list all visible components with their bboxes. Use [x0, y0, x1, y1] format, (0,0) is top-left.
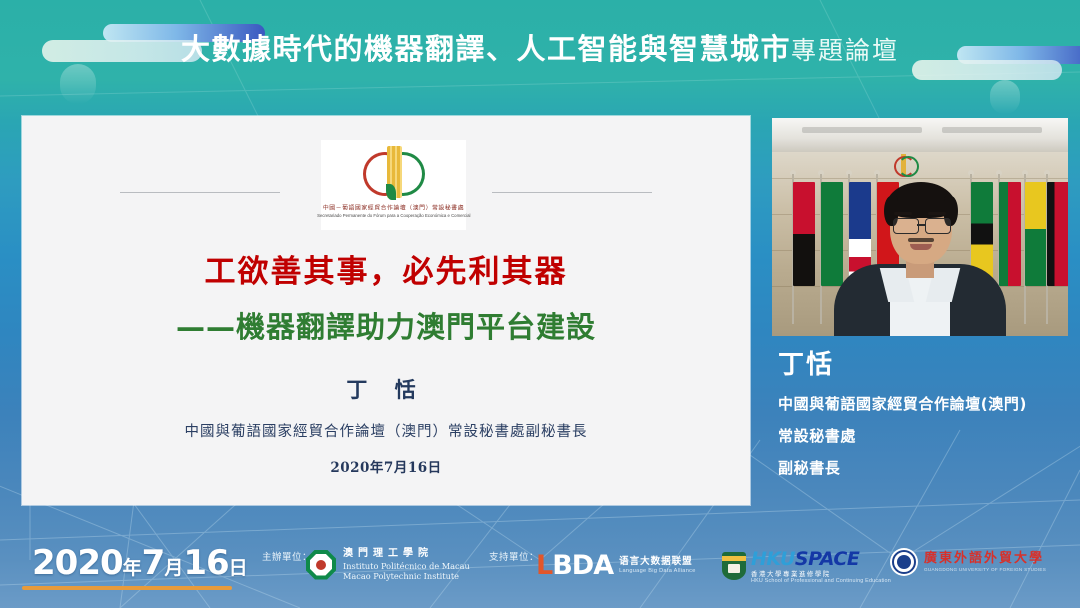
- lbda-name-en: Language Big Data Alliance: [619, 568, 696, 575]
- event-date-year-unit: 年: [123, 557, 142, 579]
- slide-title-main: 工欲善其事，必先利其器: [22, 246, 750, 291]
- mpi-name-en: Macao Polytechnic Institute: [343, 571, 470, 581]
- speaker-info-name: 丁恬: [778, 344, 1078, 381]
- slide-title-sub: ——機器翻譯助力澳門平台建設: [22, 304, 750, 346]
- decor-pill-top-left-faint: [60, 64, 96, 104]
- event-date-underline: [22, 586, 232, 590]
- mpi-seal-icon: [306, 550, 336, 580]
- gdufs-badge-icon: [890, 548, 918, 576]
- forum-header-title: 大數據時代的機器翻譯、人工智能與智慧城市專題論壇: [0, 26, 1080, 68]
- presentation-stage: 大數據時代的機器翻譯、人工智能與智慧城市專題論壇 中國－葡語國家經貿合作論壇（澳…: [0, 0, 1080, 608]
- speaker-info-block: 丁恬 中國與葡語國家經貿合作論壇(澳門) 常設秘書處 副秘書長: [778, 344, 1078, 489]
- event-date-year: 2020: [32, 543, 123, 583]
- event-date: 2020年7月16日: [32, 543, 248, 583]
- event-date-month-unit: 月: [164, 557, 183, 579]
- lbda-name-zh: 语言大数据联盟: [619, 556, 696, 568]
- video-ceiling: [772, 118, 1068, 152]
- glasses-icon: [893, 218, 919, 234]
- speaker-video-feed[interactable]: [772, 118, 1068, 336]
- hku-mark-a: HKU: [751, 548, 795, 570]
- logo-hku-space: HKUSPACE 香港大學專業進修學院 HKU School of Profes…: [722, 548, 891, 585]
- lbda-mark-rest: BDA: [552, 550, 613, 581]
- hku-name-zh: 香港大學專業進修學院: [751, 571, 891, 579]
- logo-caption-pt: Secretariado Permanente do Fórum para a …: [317, 213, 470, 219]
- gdufs-name-zh: 廣東外語外貿大學: [924, 551, 1046, 567]
- logo-gdufs: 廣東外語外貿大學 GUANGDONG UNIVERSITY OF FOREIGN…: [890, 548, 1046, 576]
- speaker-portrait: [834, 178, 1006, 336]
- event-date-day-unit: 日: [229, 557, 248, 579]
- slide-logo-row: 中國－葡語國家經貿合作論壇（澳門）常設秘書處 Secretariado Perm…: [22, 130, 750, 230]
- header-title-strong: 大數據時代的機器翻譯、人工智能與智慧城市: [181, 32, 791, 66]
- event-date-month: 7: [142, 543, 165, 583]
- hku-mark-b: SPACE: [795, 548, 859, 570]
- slide-speaker-name: 丁 恬: [22, 374, 750, 404]
- mpi-name-pt: Instituto Politécnico de Macau: [343, 561, 470, 571]
- slide-date: 2020年7月16日: [22, 456, 750, 476]
- forum-macao-emblem-icon: [357, 144, 431, 202]
- lbda-wordmark: LBDA: [536, 550, 613, 581]
- glasses-icon-right: [925, 218, 951, 234]
- speaker-info-line3: 副秘書長: [778, 457, 1078, 478]
- hku-name-en: HKU School of Professional and Continuin…: [751, 578, 891, 584]
- hku-shield-icon: [722, 552, 746, 580]
- divider-line-left: [120, 192, 280, 193]
- slide-speaker-org: 中國與葡語國家經貿合作論壇（澳門）常設秘書處副秘書長: [22, 420, 750, 441]
- video-wall-crest-icon: [892, 154, 914, 180]
- logo-caption-zh: 中國－葡語國家經貿合作論壇（澳門）常設秘書處: [323, 204, 464, 212]
- slide-canvas: 中國－葡語國家經貿合作論壇（澳門）常設秘書處 Secretariado Perm…: [22, 116, 750, 505]
- divider-line-right: [492, 192, 652, 193]
- logo-lbda: LBDA 语言大数据联盟 Language Big Data Alliance: [536, 550, 696, 581]
- hku-space-wordmark: HKUSPACE: [751, 548, 891, 571]
- header-title-light: 專題論壇: [791, 36, 899, 65]
- decor-pill-top-right-faint: [990, 80, 1020, 114]
- mpi-name-zh: 澳門理工學院: [343, 548, 470, 561]
- speaker-info-line2: 常設秘書處: [778, 425, 1078, 446]
- forum-macao-logo: 中國－葡語國家經貿合作論壇（澳門）常設秘書處 Secretariado Perm…: [321, 140, 466, 230]
- gdufs-name-en: GUANGDONG UNIVERSITY OF FOREIGN STUDIES: [924, 567, 1046, 573]
- support-label: 支持單位：: [489, 549, 539, 563]
- logo-macao-polytechnic-institute: 澳門理工學院 Instituto Politécnico de Macau Ma…: [306, 548, 470, 581]
- lbda-mark-first: L: [536, 550, 552, 581]
- event-date-day: 16: [183, 543, 228, 583]
- speaker-info-line1: 中國與葡語國家經貿合作論壇(澳門): [778, 393, 1078, 414]
- host-label: 主辦單位：: [262, 549, 312, 563]
